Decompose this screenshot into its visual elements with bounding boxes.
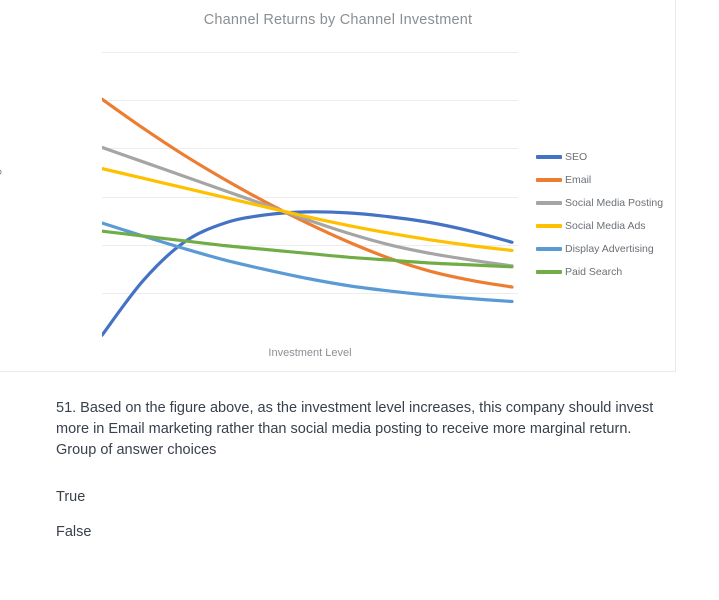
legend-swatch-icon [536,270,562,274]
legend-item[interactable]: Display Advertising [536,237,676,260]
y-axis-title: Marginal Return on Investment [0,0,2,195]
legend-item[interactable]: Social Media Ads [536,214,676,237]
series-line [102,147,512,265]
legend-swatch-icon [536,201,562,205]
legend-swatch-icon [536,247,562,251]
group-of-answer-choices-label: Group of answer choices [56,440,676,461]
legend-item[interactable]: Email [536,168,676,191]
legend-swatch-icon [536,155,562,159]
chart-card: Channel Returns by Channel Investment Ma… [0,0,676,372]
x-axis-title: Investment Level [102,347,518,359]
line-chart-svg [102,52,518,341]
legend-swatch-icon [536,178,562,182]
legend-label: Social Media Posting [565,197,663,209]
series-line [102,223,512,302]
answer-choice[interactable]: True [56,487,676,508]
legend-item[interactable]: Paid Search [536,260,676,283]
legend-label: Display Advertising [565,243,654,255]
legend-label: Email [565,174,591,186]
chart-title: Channel Returns by Channel Investment [0,12,676,28]
answer-choice[interactable]: False [56,522,676,543]
question-block: 51. Based on the figure above, as the in… [56,398,676,557]
legend-swatch-icon [536,224,562,228]
legend-item[interactable]: SEO [536,145,676,168]
chart-legend: SEOEmailSocial Media PostingSocial Media… [536,145,676,283]
question-text: 51. Based on the figure above, as the in… [56,398,676,440]
legend-label: Social Media Ads [565,220,646,232]
legend-label: SEO [565,151,587,163]
legend-label: Paid Search [565,266,622,278]
series-line [102,212,512,335]
answer-choices-list: TrueFalse [56,487,676,543]
plot-area [102,52,518,341]
legend-item[interactable]: Social Media Posting [536,191,676,214]
